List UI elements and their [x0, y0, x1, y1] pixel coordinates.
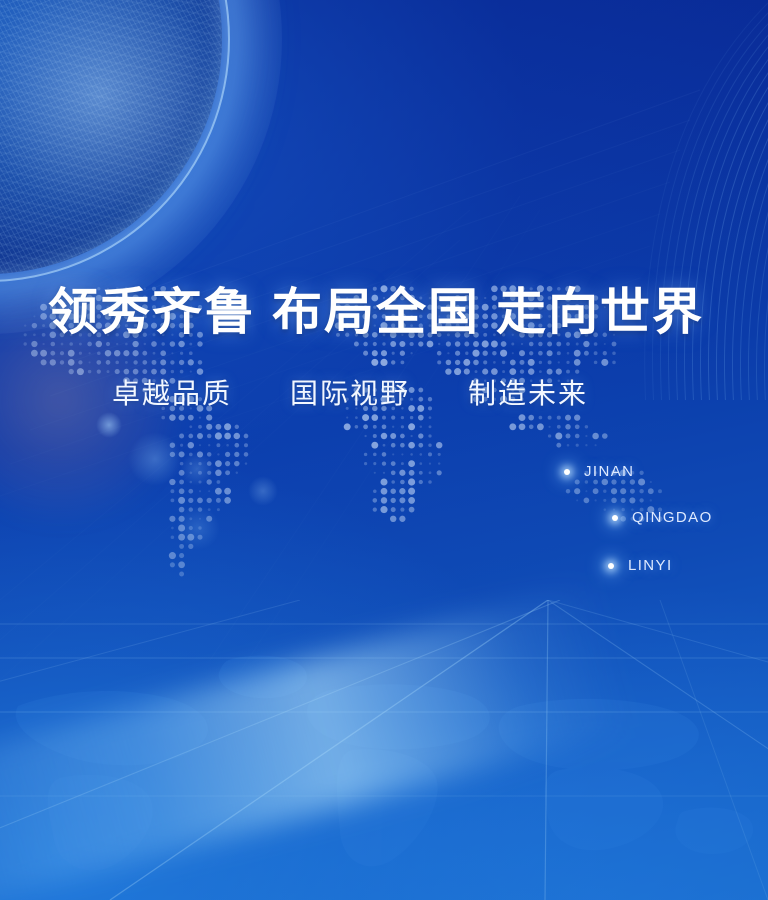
diagonal-streak-lines: [0, 0, 768, 900]
globe-atmosphere-rim: [0, 0, 230, 282]
bokeh-glow: [180, 452, 214, 486]
promo-banner: 领秀齐鲁布局全国走向世界 卓越品质国际视野制造未来 JINAN QINGDAO …: [0, 0, 768, 900]
city-marker-linyi[interactable]: LINYI: [608, 557, 673, 574]
subheadline-part-2: 国际视野: [290, 379, 410, 410]
headline-part-3: 走向世界: [496, 284, 704, 340]
city-marker-dot-icon: [564, 469, 570, 475]
bokeh-glow: [128, 432, 182, 486]
city-marker-dot-icon: [608, 563, 614, 569]
city-label-jinan: JINAN: [584, 463, 634, 480]
globe-body: [0, 0, 222, 274]
banner-headline: 领秀齐鲁布局全国走向世界: [48, 272, 704, 344]
banner-subheadline: 卓越品质国际视野制造未来: [112, 372, 588, 412]
globe-graphic: [0, 0, 222, 274]
bokeh-glow: [176, 506, 220, 550]
dot-matrix-world-map: [0, 0, 768, 900]
light-sweep-streak: [0, 583, 633, 900]
subheadline-part-3: 制造未来: [468, 379, 588, 410]
subheadline-part-1: 卓越品质: [112, 379, 232, 410]
city-marker-dot-icon: [612, 515, 618, 521]
headline-part-2: 布局全国: [272, 284, 480, 340]
bokeh-glow: [96, 412, 122, 438]
bottom-world-silhouette: [0, 610, 768, 900]
city-label-qingdao: QINGDAO: [632, 509, 713, 526]
headline-part-1: 领秀齐鲁: [48, 284, 256, 340]
bokeh-glow: [248, 476, 278, 506]
perspective-grid-lines: [0, 600, 768, 900]
globe-texture: [0, 0, 222, 274]
city-marker-jinan[interactable]: JINAN: [564, 463, 634, 480]
city-label-linyi: LINYI: [628, 557, 673, 574]
city-marker-qingdao[interactable]: QINGDAO: [612, 509, 713, 526]
